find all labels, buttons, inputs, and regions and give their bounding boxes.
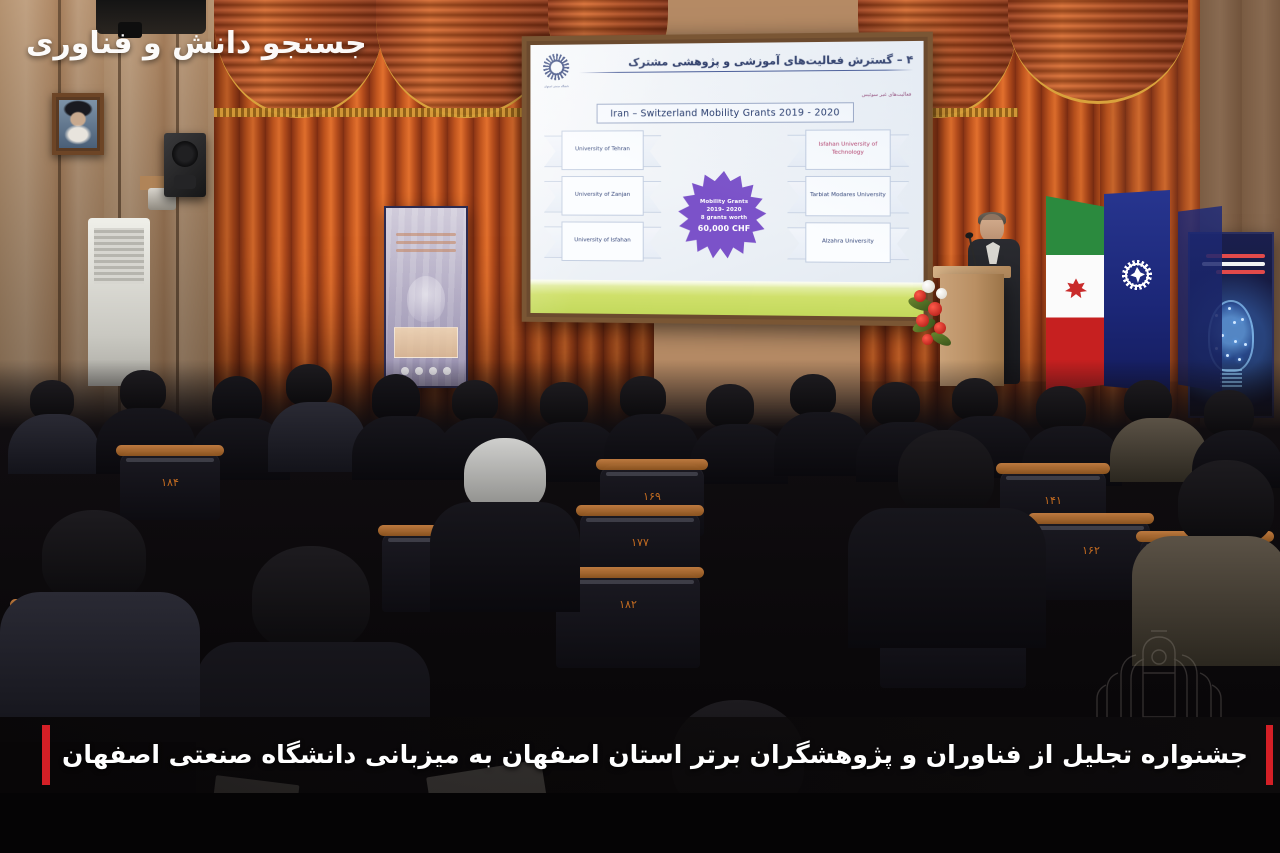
slide-header: دانشگاه صنعتی اصفهان ۴ – گسترش فعالیت‌ها… xyxy=(540,49,913,88)
projection-screen: دانشگاه صنعتی اصفهان ۴ – گسترش فعالیت‌ها… xyxy=(522,32,933,327)
slide-title: ۴ – گسترش فعالیت‌های آموزشی و پژوهشی مشت… xyxy=(579,49,913,69)
flower-arrangement xyxy=(908,276,966,348)
slide-title-rule xyxy=(579,69,913,73)
seat-number: ۱۶۲ xyxy=(1032,544,1150,557)
audience-head xyxy=(1178,460,1274,546)
caption-accent-right xyxy=(1266,725,1273,785)
university-label: University of Isfahan xyxy=(561,221,643,261)
credit-block: iut.news e ♪ @iut_news روابـط عـمـومـی د… xyxy=(1273,717,1280,793)
seat-number: ۱۴۱ xyxy=(1000,494,1106,507)
auditorium-chair: ۱۸۴ xyxy=(120,450,220,520)
audience-head-gray xyxy=(464,438,546,512)
curtain-fringe xyxy=(214,108,384,117)
audience-shoulders xyxy=(8,414,100,474)
star-shape: Mobility Grants 2019- 2020 8 grants wort… xyxy=(678,171,770,263)
star-text: Mobility Grants 2019- 2020 8 grants wort… xyxy=(698,199,751,235)
audience-head xyxy=(286,364,332,406)
university-item: Alzahra University xyxy=(787,221,909,266)
universities-right-column: Isfahan University of Technology Tarbiat… xyxy=(787,128,909,268)
speaker-head xyxy=(980,214,1004,242)
audience-head xyxy=(372,374,420,420)
audience-head xyxy=(540,382,588,426)
audience-head xyxy=(620,376,666,418)
university-label: Isfahan University of Technology xyxy=(805,129,890,170)
universities-left-column: University of Tehran University of Zanja… xyxy=(544,129,661,266)
audience-head xyxy=(790,374,836,416)
slide-subtitle: فعالیت‌های غیر سوئیس xyxy=(540,92,911,100)
audience-head-foreground xyxy=(252,546,370,650)
center-star-callout: Mobility Grants 2019- 2020 8 grants wort… xyxy=(678,171,770,263)
caption-headline: جشنواره تجلیل از فناوران و پژوهشگران برت… xyxy=(50,717,1266,793)
iut-logo-icon: دانشگاه صنعتی اصفهان xyxy=(540,53,573,89)
screen-surface: دانشگاه صنعتی اصفهان ۴ – گسترش فعالیت‌ها… xyxy=(530,41,923,317)
iut-emblem-icon xyxy=(1116,254,1158,296)
logo-caption: دانشگاه صنعتی اصفهان xyxy=(540,85,573,88)
star-line-3: 8 grants worth xyxy=(698,215,751,223)
banner-info-card xyxy=(394,327,458,357)
audience-head xyxy=(452,380,498,422)
audience-head xyxy=(212,376,262,424)
university-label: Alzahra University xyxy=(805,222,890,263)
banner-title-lines xyxy=(396,233,457,257)
top-left-watermark: جستجو دانش و فناوری xyxy=(26,26,367,61)
portrait-face xyxy=(59,100,97,148)
photo-canvas: دانشگاه صنعتی اصفهان ۴ – گسترش فعالیت‌ها… xyxy=(0,0,1280,853)
university-item: Tarbiat Modares University xyxy=(787,175,909,220)
university-item: University of Zanjan xyxy=(544,175,661,219)
audience-head xyxy=(120,370,166,412)
framed-portrait xyxy=(52,93,104,155)
wall-loudspeaker xyxy=(164,133,206,197)
university-item: Isfahan University of Technology xyxy=(787,128,909,173)
grant-banner: Iran – Switzerland Mobility Grants 2019 … xyxy=(597,102,854,123)
caption-bar: جشنواره تجلیل از فناوران و پژوهشگران برت… xyxy=(0,717,1280,793)
star-line-2: 2019- 2020 xyxy=(698,207,751,215)
audience-head xyxy=(952,378,998,420)
seat-number: ۱۸۴ xyxy=(120,476,220,489)
university-label: University of Zanjan xyxy=(561,176,643,216)
audience-head xyxy=(872,382,920,426)
seat-number: ۱۶۹ xyxy=(600,490,704,503)
caption-accent-left xyxy=(42,725,50,785)
presentation-slide: دانشگاه صنعتی اصفهان ۴ – گسترش فعالیت‌ها… xyxy=(530,41,923,317)
audience-head xyxy=(42,510,146,602)
audience-shoulders xyxy=(430,502,580,612)
star-line-1: Mobility Grants xyxy=(698,199,751,207)
gear-inner-ring xyxy=(549,60,565,76)
university-item: University of Isfahan xyxy=(544,220,661,264)
mobility-grants-diagram: University of Tehran University of Zanja… xyxy=(540,128,913,270)
star-amount: 60,000 CHF xyxy=(698,223,751,235)
university-item: University of Tehran xyxy=(544,129,661,173)
audience-head xyxy=(898,430,994,516)
university-label: University of Tehran xyxy=(561,130,643,170)
slide-footer-band xyxy=(530,279,923,317)
lightbulb-icon xyxy=(407,276,445,322)
seat-number: ۱۷۷ xyxy=(580,536,700,549)
ac-vent xyxy=(94,228,144,284)
bottom-letterbox xyxy=(0,793,1280,853)
audience-shoulders xyxy=(848,508,1046,648)
audience-head xyxy=(706,384,754,428)
university-label: Tarbiat Modares University xyxy=(805,176,890,217)
